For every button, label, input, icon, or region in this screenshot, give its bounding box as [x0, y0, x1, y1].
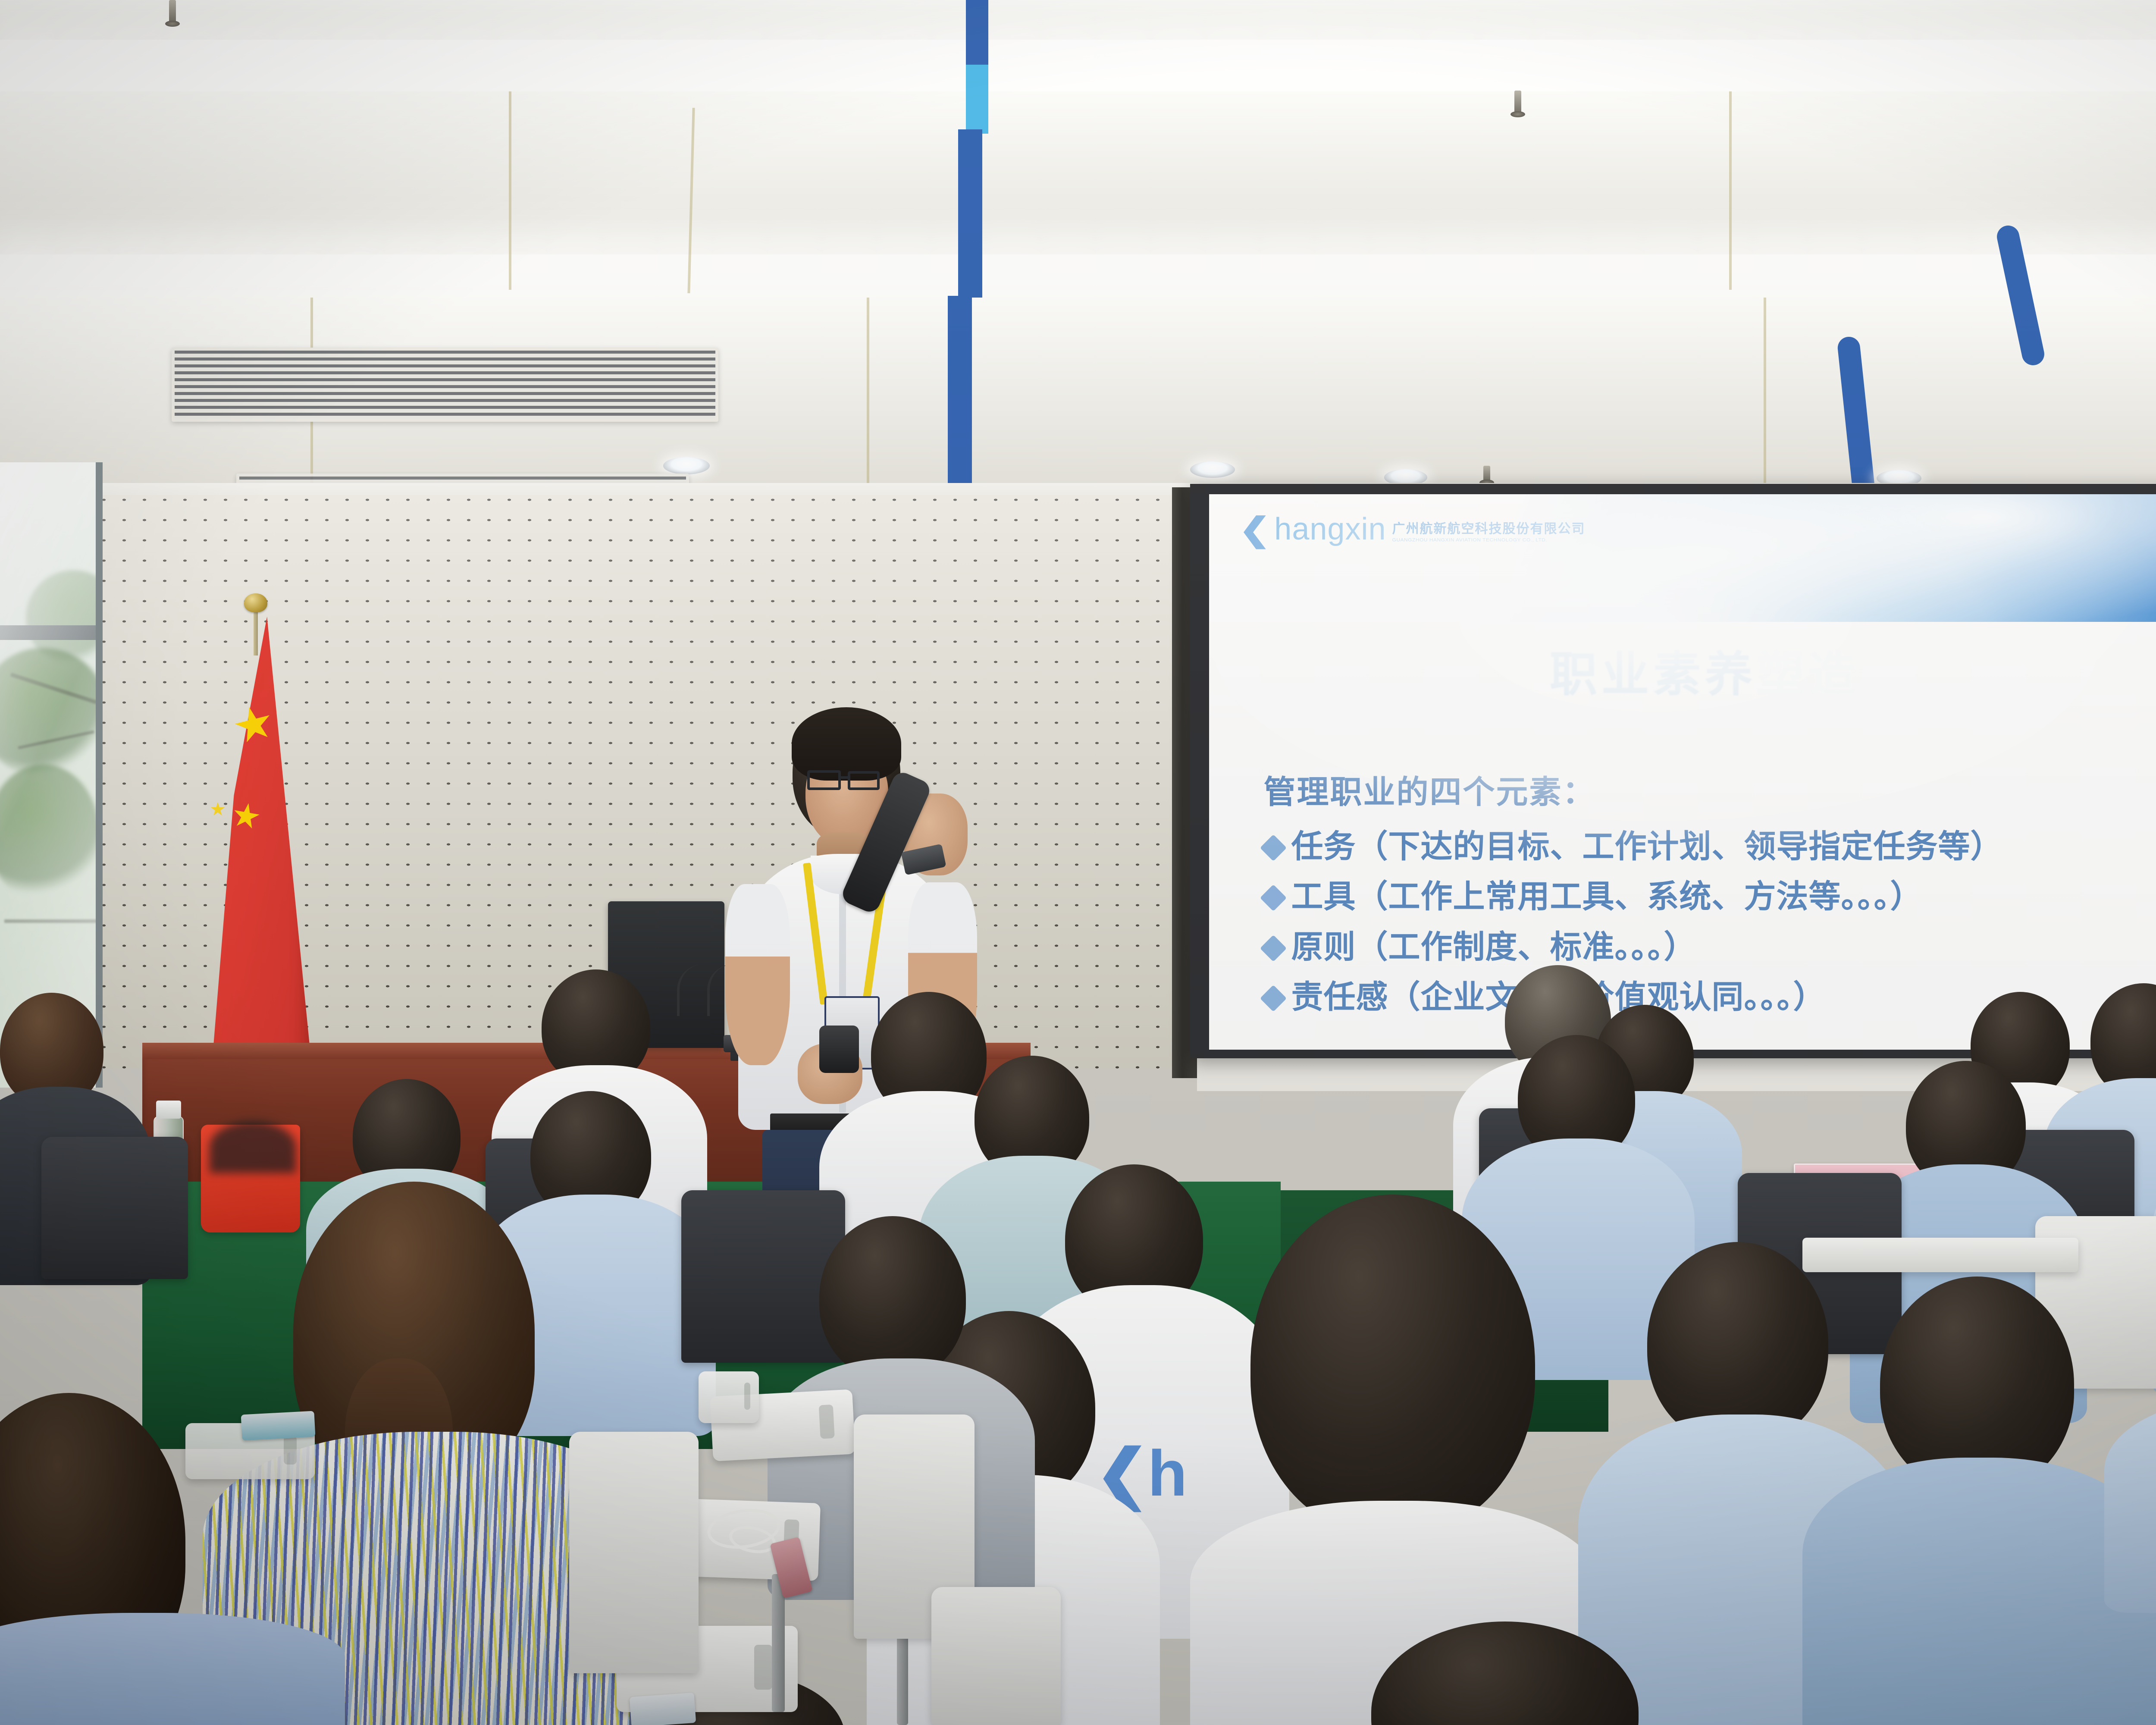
- presenter-eyeglasses-bridge: [840, 776, 849, 779]
- slide-bullet: 任务（下达的目标、工作计划、领导指定任务等）: [1264, 827, 2156, 866]
- logo-wordmark: hangxin: [1274, 514, 1386, 545]
- slide-body: 管理职业的四个元素： 任务（下达的目标、工作计划、领导指定任务等） 工具（工作上…: [1264, 766, 2156, 1028]
- slide-lead-line: 管理职业的四个元素：: [1264, 766, 2156, 812]
- ceiling-seam: [1764, 298, 1766, 500]
- ceiling-downlight: [663, 457, 710, 474]
- chair-back: [931, 1587, 1061, 1725]
- slide-bullet: 工具（工作上常用工具、系统、方法等。。。）: [1264, 877, 2156, 916]
- audience-head-foreground: [1250, 1195, 1535, 1535]
- presenter-eyeglasses-left-lens: [807, 770, 841, 790]
- presentation-clicker: [819, 1026, 859, 1073]
- bag-strap: [210, 1121, 296, 1173]
- ceiling-accent-stripe-blue: [958, 129, 982, 298]
- tablet-arm-desk: [699, 1371, 759, 1423]
- hangxin-chevron-icon: ❮: [1239, 516, 1270, 544]
- diamond-bullet-icon: [1260, 985, 1286, 1012]
- slide-title-faded: 塑造: [1757, 648, 1860, 701]
- fire-sprinkler: [169, 0, 176, 22]
- audience-torso: [1802, 1458, 2156, 1725]
- smartphone-on-desk: [630, 1693, 696, 1725]
- flag-finial: [244, 593, 267, 612]
- smartphone-on-desk: [241, 1411, 316, 1441]
- ceiling-seam: [509, 91, 511, 290]
- powerpoint-slide: ❮ hangxin 广州航新航空科技股份有限公司 GUANGZHOU HANGX…: [1209, 494, 2156, 1050]
- audience-torso: [0, 1613, 345, 1725]
- ceiling-downlight: [1190, 461, 1235, 478]
- chair-back: [569, 1432, 699, 1673]
- audience-desk: [1802, 1238, 2078, 1272]
- logo-company-name: 广州航新航空科技股份有限公司 GUANGZHOU HANGXIN AVIATIO…: [1392, 514, 1586, 543]
- presenter-hair: [792, 707, 901, 781]
- ceiling-seam: [1729, 91, 1732, 290]
- slide-bullet-text: 原则（工作制度、标准。。。）: [1291, 928, 2156, 966]
- bottle-cap: [156, 1101, 181, 1119]
- logo-company-name-en: GUANGZHOU HANGXIN AVIATION TECHNOLOGY CO…: [1392, 537, 1586, 543]
- presenter-eyeglasses-right-lens: [848, 771, 880, 790]
- window-frame-edge: [96, 462, 103, 1088]
- diamond-bullet-icon: [1260, 884, 1286, 911]
- diamond-bullet-icon: [1260, 834, 1286, 861]
- slide-title-visible: 职业素养: [1550, 648, 1757, 701]
- diamond-bullet-icon: [1260, 935, 1286, 962]
- slide-bullet-text: 工具（工作上常用工具、系统、方法等。。。）: [1291, 877, 2156, 916]
- chair-back: [681, 1190, 845, 1363]
- fire-sprinkler: [1483, 466, 1490, 481]
- conference-room-photo: ❮ hangxin 广州航新航空科技股份有限公司 GUANGZHOU HANGX…: [0, 0, 2156, 1725]
- presenter-left-arm: [725, 884, 790, 1065]
- chair-back: [41, 1137, 188, 1279]
- slide-bullet-text: 任务（下达的目标、工作计划、领导指定任务等）: [1291, 827, 2156, 866]
- ceiling-seam: [867, 298, 869, 500]
- audience-head: [819, 1216, 966, 1380]
- ceiling-light-strip-mid: [0, 254, 2156, 296]
- logo-company-name-cn: 广州航新航空科技股份有限公司: [1392, 518, 1586, 537]
- ceiling-accent-stripe-blue: [948, 296, 972, 503]
- company-logo: ❮ hangxin 广州航新航空科技股份有限公司 GUANGZHOU HANGX…: [1241, 514, 1586, 545]
- audience-torso: [2104, 1397, 2156, 1613]
- projection-screen-surface: ❮ hangxin 广州航新航空科技股份有限公司 GUANGZHOU HANGX…: [1209, 494, 2156, 1050]
- ceiling-light-strip-top: [0, 40, 2156, 91]
- slide-bullet: 原则（工作制度、标准。。。）: [1264, 928, 2156, 966]
- hvac-supply-grille: [172, 348, 718, 422]
- slide-title: 职业素养塑造: [1209, 636, 2156, 705]
- fire-sprinkler: [1514, 91, 1521, 113]
- ceiling-accent-stripe-cyan: [966, 65, 988, 134]
